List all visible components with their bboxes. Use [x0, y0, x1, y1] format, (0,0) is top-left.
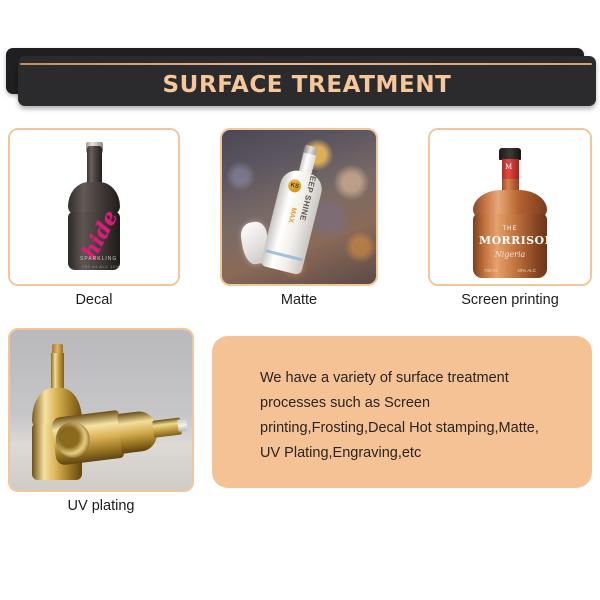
bottle-shoulder [68, 182, 120, 216]
screen-printing-bottle-image: M THE MORRISON Nigeria 700 ml 40% ALC [430, 130, 590, 284]
bottle-shoulder [473, 190, 547, 216]
card-label-uv-plating: UV plating [8, 498, 194, 514]
page-header-banner: SURFACE TREATMENT [0, 48, 600, 110]
card-label-matte: Matte [220, 292, 378, 308]
screen-crest-text: THE [492, 226, 528, 232]
bottle-neck [51, 353, 64, 393]
screen-volume-row: 700 ml 40% ALC [484, 268, 536, 273]
product-card-decal[interactable]: hide SPARKLING 750 ml ALC 11% [8, 128, 180, 286]
card-label-screen-printing: Screen printing [428, 292, 592, 308]
card-label-decal: Decal [8, 292, 180, 308]
volume-right-text: 40% ALC [517, 268, 536, 273]
decal-detail-line: 750 ml ALC 11% [82, 264, 120, 269]
neck-mark-text: M [505, 163, 512, 171]
uv-plating-bottles-image [10, 330, 192, 490]
info-panel-text: We have a variety of surface treatment p… [260, 366, 566, 466]
volume-left-text: 700 ml [484, 268, 498, 273]
page-title: SURFACE TREATMENT [18, 56, 596, 106]
bottle-mouth-tip [177, 419, 187, 432]
product-card-matte[interactable]: KS KEEP SHINE MAX [220, 128, 378, 286]
product-card-screen-printing[interactable]: M THE MORRISON Nigeria 700 ml 40% ALC [428, 128, 592, 286]
decal-sub-line: SPARKLING [80, 256, 117, 262]
decal-bottle-image: hide SPARKLING 750 ml ALC 11% [10, 130, 178, 284]
product-card-uv-plating[interactable] [8, 328, 194, 492]
surface-treatment-info-panel: We have a variety of surface treatment p… [212, 336, 592, 488]
screen-script-text: Nigeria [490, 250, 530, 259]
screen-wordmark: MORRISON [479, 234, 541, 247]
matte-bottle-image: KS KEEP SHINE MAX [222, 130, 376, 284]
